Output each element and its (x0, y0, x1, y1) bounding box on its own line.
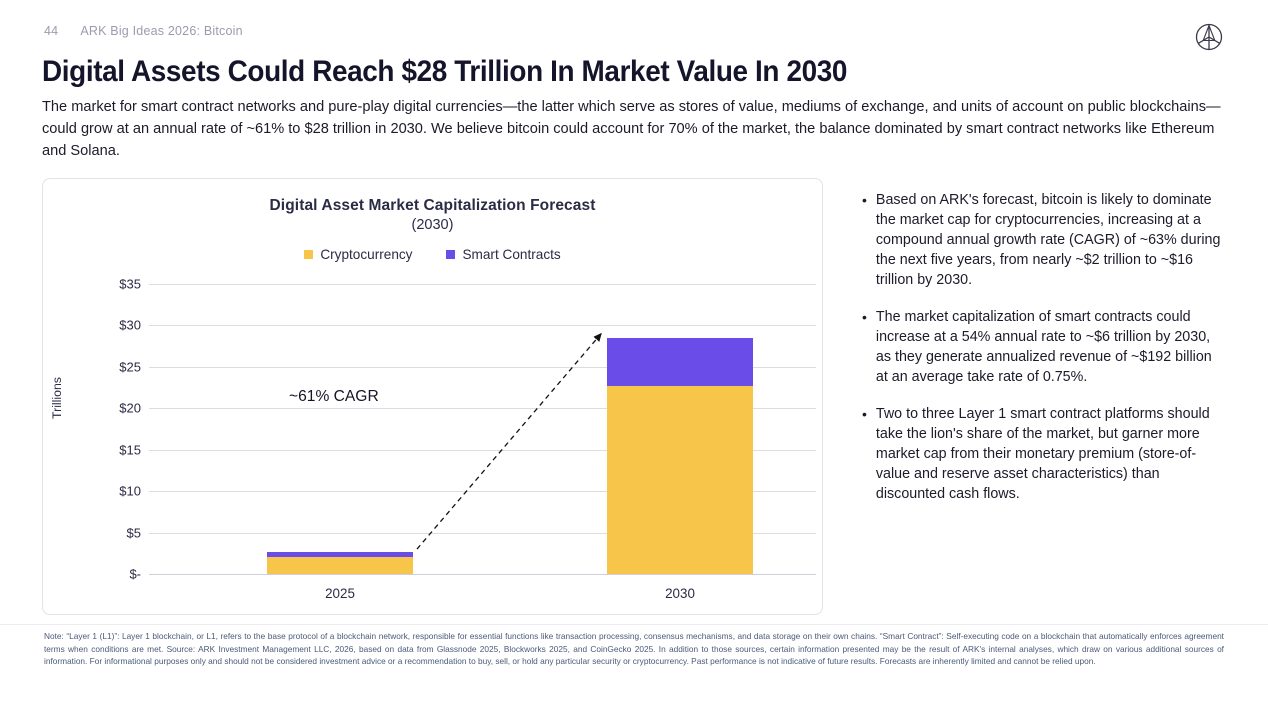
cagr-annotation: ~61% CAGR (289, 388, 379, 406)
bullet-text: The market capitalization of smart contr… (876, 307, 1224, 387)
footnote: Note: “Layer 1 (L1)”: Layer 1 blockchain… (44, 630, 1224, 668)
y-axis-ticks: $-$5$10$15$20$25$30$35 (83, 179, 141, 616)
bullet-marker-icon: • (862, 190, 867, 290)
page-number: 44 (44, 24, 58, 38)
y-axis-tick-label: $35 (83, 277, 141, 292)
bullet-item: •Two to three Layer 1 smart contract pla… (862, 404, 1224, 504)
insight-bullets: •Based on ARK's forecast, bitcoin is lik… (862, 190, 1224, 521)
bullet-item: •Based on ARK's forecast, bitcoin is lik… (862, 190, 1224, 290)
y-axis-tick-label: $- (83, 567, 141, 582)
y-axis-tick-label: $5 (83, 525, 141, 540)
y-axis-label: Trillions (50, 377, 64, 419)
deck-name: ARK Big Ideas 2026: Bitcoin (80, 24, 242, 38)
intro-paragraph: The market for smart contract networks a… (42, 96, 1226, 162)
ark-logo-icon (1192, 20, 1226, 54)
bullet-marker-icon: • (862, 404, 867, 504)
y-axis-tick-label: $10 (83, 484, 141, 499)
footnote-divider (0, 624, 1268, 625)
y-axis-tick-label: $30 (83, 318, 141, 333)
slide: 44 ARK Big Ideas 2026: Bitcoin Digital A… (0, 0, 1268, 713)
y-axis-tick-label: $15 (83, 442, 141, 457)
y-axis-tick-label: $20 (83, 401, 141, 416)
chart-plot-area: Trillions $-$5$10$15$20$25$30$35 2025203… (43, 179, 824, 616)
bullet-marker-icon: • (862, 307, 867, 387)
cagr-arrow-icon (149, 179, 816, 616)
bullet-text: Two to three Layer 1 smart contract plat… (876, 404, 1224, 504)
page-title: Digital Assets Could Reach $28 Trillion … (42, 55, 972, 89)
bullet-text: Based on ARK's forecast, bitcoin is like… (876, 190, 1224, 290)
slide-header: 44 ARK Big Ideas 2026: Bitcoin (44, 24, 243, 38)
chart-card: Digital Asset Market Capitalization Fore… (42, 178, 823, 615)
bullet-item: •The market capitalization of smart cont… (862, 307, 1224, 387)
y-axis-tick-label: $25 (83, 359, 141, 374)
